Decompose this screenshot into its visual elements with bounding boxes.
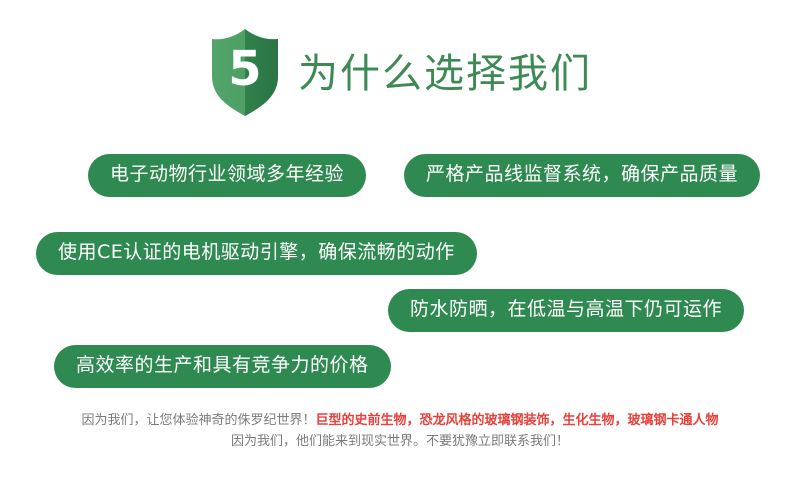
footer-line-1: 因为我们，让您体验神奇的侏罗纪世界！巨型的史前生物，恐龙风格的玻璃钢装饰，生化生… bbox=[0, 410, 800, 431]
footer-paragraph: 因为我们，让您体验神奇的侏罗纪世界！巨型的史前生物，恐龙风格的玻璃钢装饰，生化生… bbox=[0, 410, 800, 452]
feature-pill-quality[interactable]: 严格产品线监督系统，确保产品质量 bbox=[404, 154, 760, 197]
footer-line-1-highlight: 巨型的史前生物，恐龙风格的玻璃钢装饰，生化生物，玻璃钢卡通人物 bbox=[316, 413, 719, 428]
page-header: 5 为什么选择我们 bbox=[0, 24, 800, 124]
feature-pill-list: 电子动物行业领域多年经验 严格产品线监督系统，确保产品质量 使用CE认证的电机驱… bbox=[0, 142, 800, 392]
feature-pill-weatherproof[interactable]: 防水防晒，在低温与高温下仍可运作 bbox=[388, 289, 744, 332]
promo-page: 5 为什么选择我们 电子动物行业领域多年经验 严格产品线监督系统，确保产品质量 … bbox=[0, 0, 800, 485]
feature-pill-ce-motor[interactable]: 使用CE认证的电机驱动引擎，确保流畅的动作 bbox=[36, 232, 477, 275]
feature-pill-experience[interactable]: 电子动物行业领域多年经验 bbox=[88, 154, 366, 197]
footer-line-1-prefix: 因为我们，让您体验神奇的侏罗纪世界！ bbox=[81, 413, 315, 428]
shield-badge: 5 bbox=[208, 28, 282, 120]
footer-line-2: 因为我们，他们能来到现实世界。不要犹豫立即联系我们！ bbox=[0, 431, 800, 452]
badge-number: 5 bbox=[208, 28, 282, 110]
page-title: 为什么选择我们 bbox=[298, 52, 592, 96]
feature-pill-price[interactable]: 高效率的生产和具有竞争力的价格 bbox=[54, 345, 391, 388]
